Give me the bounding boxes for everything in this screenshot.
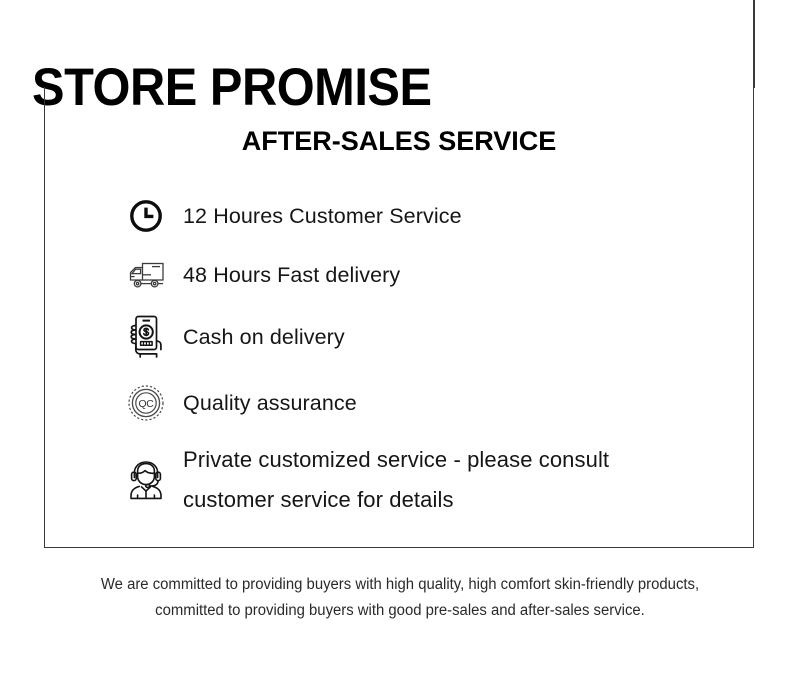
feature-row-quality-assurance: QC Quality assurance [115,369,733,437]
footer-note-line-1: We are committed to providing buyers wit… [16,572,784,598]
clock-icon [115,188,177,244]
feature-row-private-customized-service: Private customized service - please cons… [115,437,733,523]
feature-list: 12 Houres Customer Service [115,187,733,523]
svg-text:QC: QC [139,399,155,410]
feature-row-customer-service: 12 Houres Customer Service [115,187,733,245]
support-agent-icon [115,452,177,508]
store-promise-banner: STORE PROMISE AFTER-SALES SERVICE 12 Hou… [0,0,800,678]
delivery-truck-icon [115,247,177,303]
panel-right-rule-extension [753,0,755,88]
feature-row-cash-on-delivery: Cash on delivery [115,305,733,369]
footer-note-line-2: committed to providing buyers with good … [16,598,784,624]
feature-label: Quality assurance [177,389,357,417]
feature-row-fast-delivery: 48 Hours Fast delivery [115,245,733,305]
hand-phone-money-icon [115,309,177,365]
after-sales-panel: AFTER-SALES SERVICE 12 Houres Customer S… [44,87,754,548]
feature-label: 48 Hours Fast delivery [177,261,400,289]
panel-title: AFTER-SALES SERVICE [45,125,753,157]
qc-badge-icon: QC [115,375,177,431]
feature-label: Private customized service - please cons… [177,440,683,520]
footer-note: We are committed to providing buyers wit… [16,572,784,624]
feature-label: Cash on delivery [177,323,345,351]
feature-label: 12 Houres Customer Service [177,202,462,230]
